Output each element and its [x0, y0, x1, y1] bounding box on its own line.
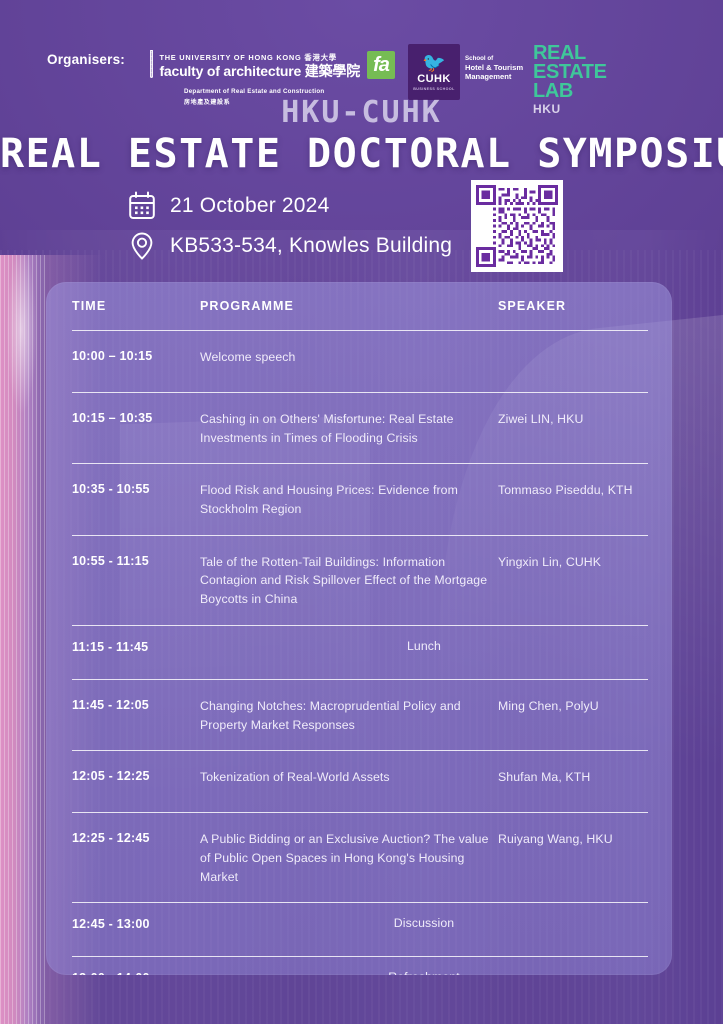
row-speaker: Shufan Ma, KTH — [498, 768, 648, 786]
row-time: 10:55 - 11:15 — [72, 553, 200, 568]
row-programme: Changing Notches: Macroprudential Policy… — [200, 697, 498, 734]
row-programme: Tale of the Rotten-Tail Buildings: Infor… — [200, 553, 498, 609]
row-programme: Welcome speech — [200, 348, 498, 367]
row-programme: A Public Bidding or an Exclusive Auction… — [200, 830, 498, 886]
event-venue: KB533-534, Knowles Building — [170, 234, 452, 258]
row-programme: Discussion — [200, 916, 648, 930]
table-row: 10:35 - 10:55Flood Risk and Housing Pric… — [72, 464, 648, 534]
hku-crest-icon — [150, 50, 153, 78]
cuhk-subtitle: BUSINESS SCHOOL — [413, 87, 455, 91]
cuhk-school-line2: Hotel & Tourism — [465, 63, 523, 72]
schedule-panel: TIMEPROGRAMMESPEAKER10:00 – 10:15Welcome… — [46, 282, 672, 975]
hku-logo-line2: faculty of architecture 建築學院 — [159, 63, 360, 79]
row-time: 13:00 - 14:00 — [72, 970, 200, 975]
cuhk-school-line3: Management — [465, 72, 523, 81]
table-row: 10:55 - 11:15Tale of the Rotten-Tail Bui… — [72, 536, 648, 625]
poster-root: Organisers: THE UNIVERSITY OF HONG KONG … — [0, 0, 723, 1024]
table-row: 11:15 - 11:45Lunch — [72, 626, 648, 679]
row-programme: Flood Risk and Housing Prices: Evidence … — [200, 481, 498, 518]
row-speaker: Ruiyang Wang, HKU — [498, 830, 648, 848]
column-header-speaker: SPEAKER — [498, 299, 648, 313]
table-row: 13:00 - 14:00Refreshment — [72, 957, 648, 975]
row-speaker: Ziwei LIN, HKU — [498, 410, 648, 428]
phoenix-icon: 🐦 — [422, 54, 446, 73]
event-venue-row: KB533-534, Knowles Building — [128, 226, 452, 266]
hku-logo-line1: THE UNIVERSITY OF HONG KONG 香港大學 — [159, 53, 336, 62]
table-row: 12:25 - 12:45A Public Bidding or an Excl… — [72, 813, 648, 902]
row-programme: Tokenization of Real-World Assets — [200, 768, 498, 787]
cuhk-school-line1: School of — [465, 55, 523, 63]
row-time: 11:45 - 12:05 — [72, 697, 200, 712]
event-meta: 21 October 2024 KB533-534, Knowles Build… — [128, 186, 452, 266]
relab-line1: REAL — [533, 44, 607, 63]
location-pin-icon — [128, 231, 156, 261]
row-programme: Lunch — [200, 639, 648, 653]
schedule-header-row: TIMEPROGRAMMESPEAKER — [72, 282, 648, 330]
qr-code-container[interactable] — [471, 180, 563, 272]
row-speaker: Tommaso Piseddu, KTH — [498, 481, 648, 499]
column-header-time: TIME — [72, 299, 200, 313]
faculty-of-architecture-mark-icon: fa — [367, 51, 395, 79]
column-header-programme: PROGRAMME — [200, 299, 498, 313]
qr-code[interactable] — [476, 185, 558, 267]
table-row: 12:45 - 13:00Discussion — [72, 903, 648, 956]
table-row: 12:05 - 12:25Tokenization of Real-World … — [72, 751, 648, 812]
organisers-bar: Organisers: THE UNIVERSITY OF HONG KONG … — [0, 22, 723, 94]
background-pink-glow — [0, 255, 36, 555]
row-time: 12:25 - 12:45 — [72, 830, 200, 845]
row-time: 10:00 – 10:15 — [72, 348, 200, 363]
event-kicker: HKU-CUHK — [0, 95, 723, 130]
cuhk-school-name: School of Hotel & Tourism Management — [465, 55, 523, 82]
table-row: 10:15 – 10:35Cashing in on Others' Misfo… — [72, 393, 648, 463]
row-programme: Refreshment — [200, 970, 648, 975]
schedule-table: TIMEPROGRAMMESPEAKER10:00 – 10:15Welcome… — [72, 282, 648, 975]
row-time: 12:05 - 12:25 — [72, 768, 200, 783]
calendar-icon — [128, 191, 156, 221]
cuhk-logo: 🐦 CUHK BUSINESS SCHOOL — [408, 44, 460, 100]
table-row: 10:00 – 10:15Welcome speech — [72, 331, 648, 392]
row-programme: Cashing in on Others' Misfortune: Real E… — [200, 410, 498, 447]
row-speaker: Yingxin Lin, CUHK — [498, 553, 648, 571]
background-pink-band — [0, 255, 46, 1024]
row-speaker: Ming Chen, PolyU — [498, 697, 648, 715]
event-date: 21 October 2024 — [170, 194, 329, 218]
cuhk-name: CUHK — [417, 74, 450, 85]
hku-department-en: Department of Real Estate and Constructi… — [184, 88, 360, 95]
row-time: 12:45 - 13:00 — [72, 916, 200, 931]
organisers-label: Organisers: — [47, 52, 125, 67]
page-title: REAL ESTATE DOCTORAL SYMPOSIUM — [0, 131, 723, 177]
relab-line2: ESTATE — [533, 63, 607, 82]
table-row: 11:45 - 12:05Changing Notches: Macroprud… — [72, 680, 648, 750]
row-time: 10:35 - 10:55 — [72, 481, 200, 496]
event-date-row: 21 October 2024 — [128, 186, 452, 226]
row-time: 10:15 – 10:35 — [72, 410, 200, 425]
row-time: 11:15 - 11:45 — [72, 639, 200, 654]
